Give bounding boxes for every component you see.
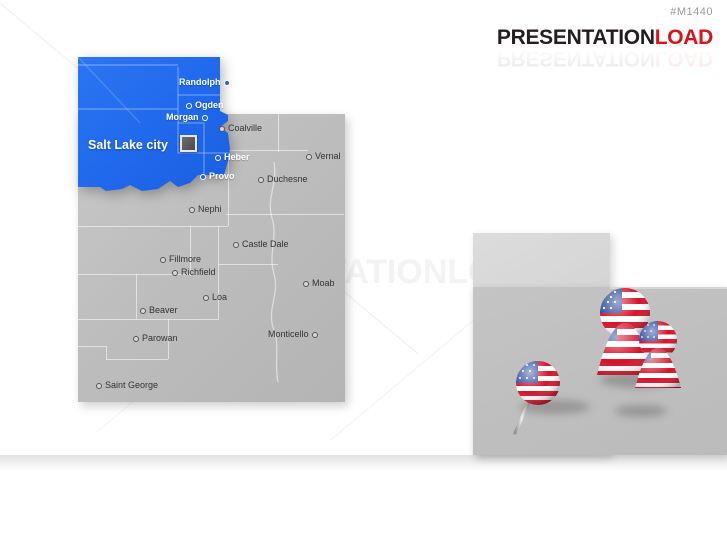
city-marker-icon (133, 336, 139, 342)
city-marker-icon (312, 332, 318, 338)
city-label[interactable]: Duchesne (258, 174, 308, 184)
city-label[interactable]: Parowan (133, 333, 178, 343)
city-marker-icon (233, 242, 239, 248)
city-label[interactable]: Loa (203, 292, 227, 302)
city-label[interactable]: Vernal (306, 151, 341, 161)
city-label[interactable]: Provo (200, 171, 235, 181)
city-label[interactable]: Ogden (186, 100, 224, 110)
city-name: Moab (312, 278, 335, 288)
city-label[interactable]: Heber (215, 152, 250, 162)
city-name: Heber (224, 152, 250, 162)
city-marker-icon (215, 155, 221, 161)
city-marker-icon (172, 270, 178, 276)
capital-marker[interactable] (180, 135, 197, 152)
city-name: Fillmore (169, 254, 201, 264)
city-marker-icon (160, 257, 166, 263)
city-label[interactable]: Coalville (219, 123, 262, 133)
city-marker-icon (219, 126, 225, 132)
city-name: Nephi (198, 204, 222, 214)
city-label[interactable]: Richfield (172, 267, 216, 277)
city-marker-icon (96, 383, 102, 389)
city-name: Duchesne (267, 174, 308, 184)
city-marker-icon (186, 103, 192, 109)
city-label[interactable]: Nephi (189, 204, 222, 214)
city-name: Ogden (195, 100, 224, 110)
city-marker-icon (200, 174, 206, 180)
city-name: Castle Dale (242, 239, 289, 249)
product-id: #M1440 (670, 6, 713, 18)
slide-canvas: #M1440 PRESENTATIONLOAD PRESENTATIONLOAD… (0, 0, 727, 545)
city-name: Vernal (315, 151, 341, 161)
city-marker-icon (224, 80, 230, 86)
city-marker-icon (306, 154, 312, 160)
city-label[interactable]: Saint George (96, 380, 158, 390)
city-name: Parowan (142, 333, 178, 343)
city-marker-icon (202, 115, 208, 121)
city-marker-icon (303, 281, 309, 287)
city-name: Richfield (181, 267, 216, 277)
footer-separator (0, 455, 727, 471)
city-label[interactable]: Fillmore (160, 254, 201, 264)
city-name: Morgan (166, 112, 199, 122)
city-label[interactable]: Castle Dale (233, 239, 289, 249)
city-marker-icon (203, 295, 209, 301)
city-label[interactable]: Beaver (140, 305, 178, 315)
city-name: Randolph (179, 77, 221, 87)
city-name: Provo (209, 171, 235, 181)
us-flag-game-piece-icon (627, 316, 689, 410)
city-label[interactable]: Randolph (179, 77, 230, 87)
city-label[interactable]: Monticello (268, 329, 318, 339)
city-marker-icon (189, 207, 195, 213)
city-label[interactable]: Moab (303, 278, 335, 288)
footer: Utah Countys – Karten Set für PowerPoint… (0, 471, 727, 545)
city-name: Coalville (228, 123, 262, 133)
city-label[interactable]: Morgan (166, 112, 208, 122)
city-marker-icon (258, 177, 264, 183)
capital-label: Salt Lake city (88, 138, 168, 152)
city-name: Monticello (268, 329, 309, 339)
us-flag-pushpin-icon (503, 355, 567, 437)
city-name: Beaver (149, 305, 178, 315)
city-name: Loa (212, 292, 227, 302)
city-marker-icon (140, 308, 146, 314)
brand-logo-reflection: PRESENTATIONLOAD (497, 46, 713, 70)
city-name: Saint George (105, 380, 158, 390)
